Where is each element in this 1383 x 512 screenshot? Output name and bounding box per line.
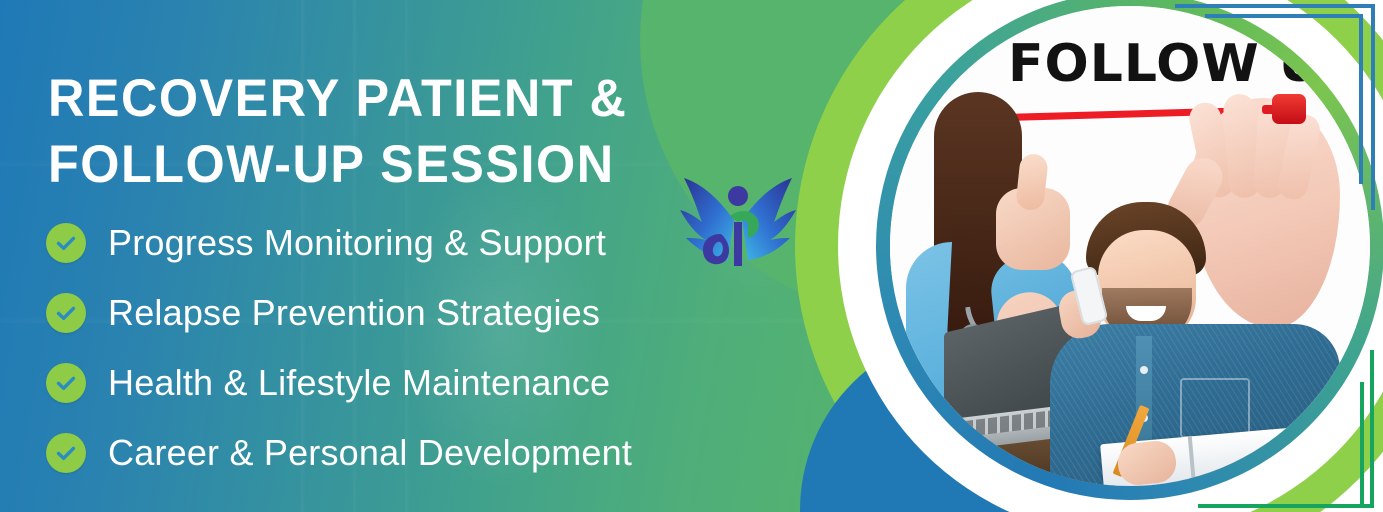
list-item-label: Progress Monitoring & Support (108, 222, 606, 264)
check-circle-icon (46, 293, 86, 333)
list-item: Career & Personal Development (46, 418, 746, 488)
list-item: Progress Monitoring & Support (46, 208, 746, 278)
list-item: Relapse Prevention Strategies (46, 278, 746, 348)
list-item-label: Relapse Prevention Strategies (108, 292, 600, 334)
promo-banner: FOLLOW UP (0, 0, 1383, 512)
check-circle-icon (46, 433, 86, 473)
list-item-label: Career & Personal Development (108, 432, 632, 474)
check-circle-icon (46, 223, 86, 263)
headline-line-1: Recovery Patient & (48, 69, 627, 128)
list-item: Health & Lifestyle Maintenance (46, 348, 746, 418)
check-circle-icon (46, 363, 86, 403)
headline-line-2: Follow-Up Session (48, 132, 713, 198)
feature-list: Progress Monitoring & Support Relapse Pr… (46, 208, 746, 488)
list-item-label: Health & Lifestyle Maintenance (108, 362, 610, 404)
corner-bracket-bottom-right-inner (1222, 350, 1374, 508)
winged-monogram-logo (668, 168, 808, 286)
page-title: Recovery Patient & Follow-Up Session (48, 66, 713, 198)
corner-bracket-top-right-inner (1205, 14, 1363, 184)
shirt-button (1140, 366, 1148, 374)
